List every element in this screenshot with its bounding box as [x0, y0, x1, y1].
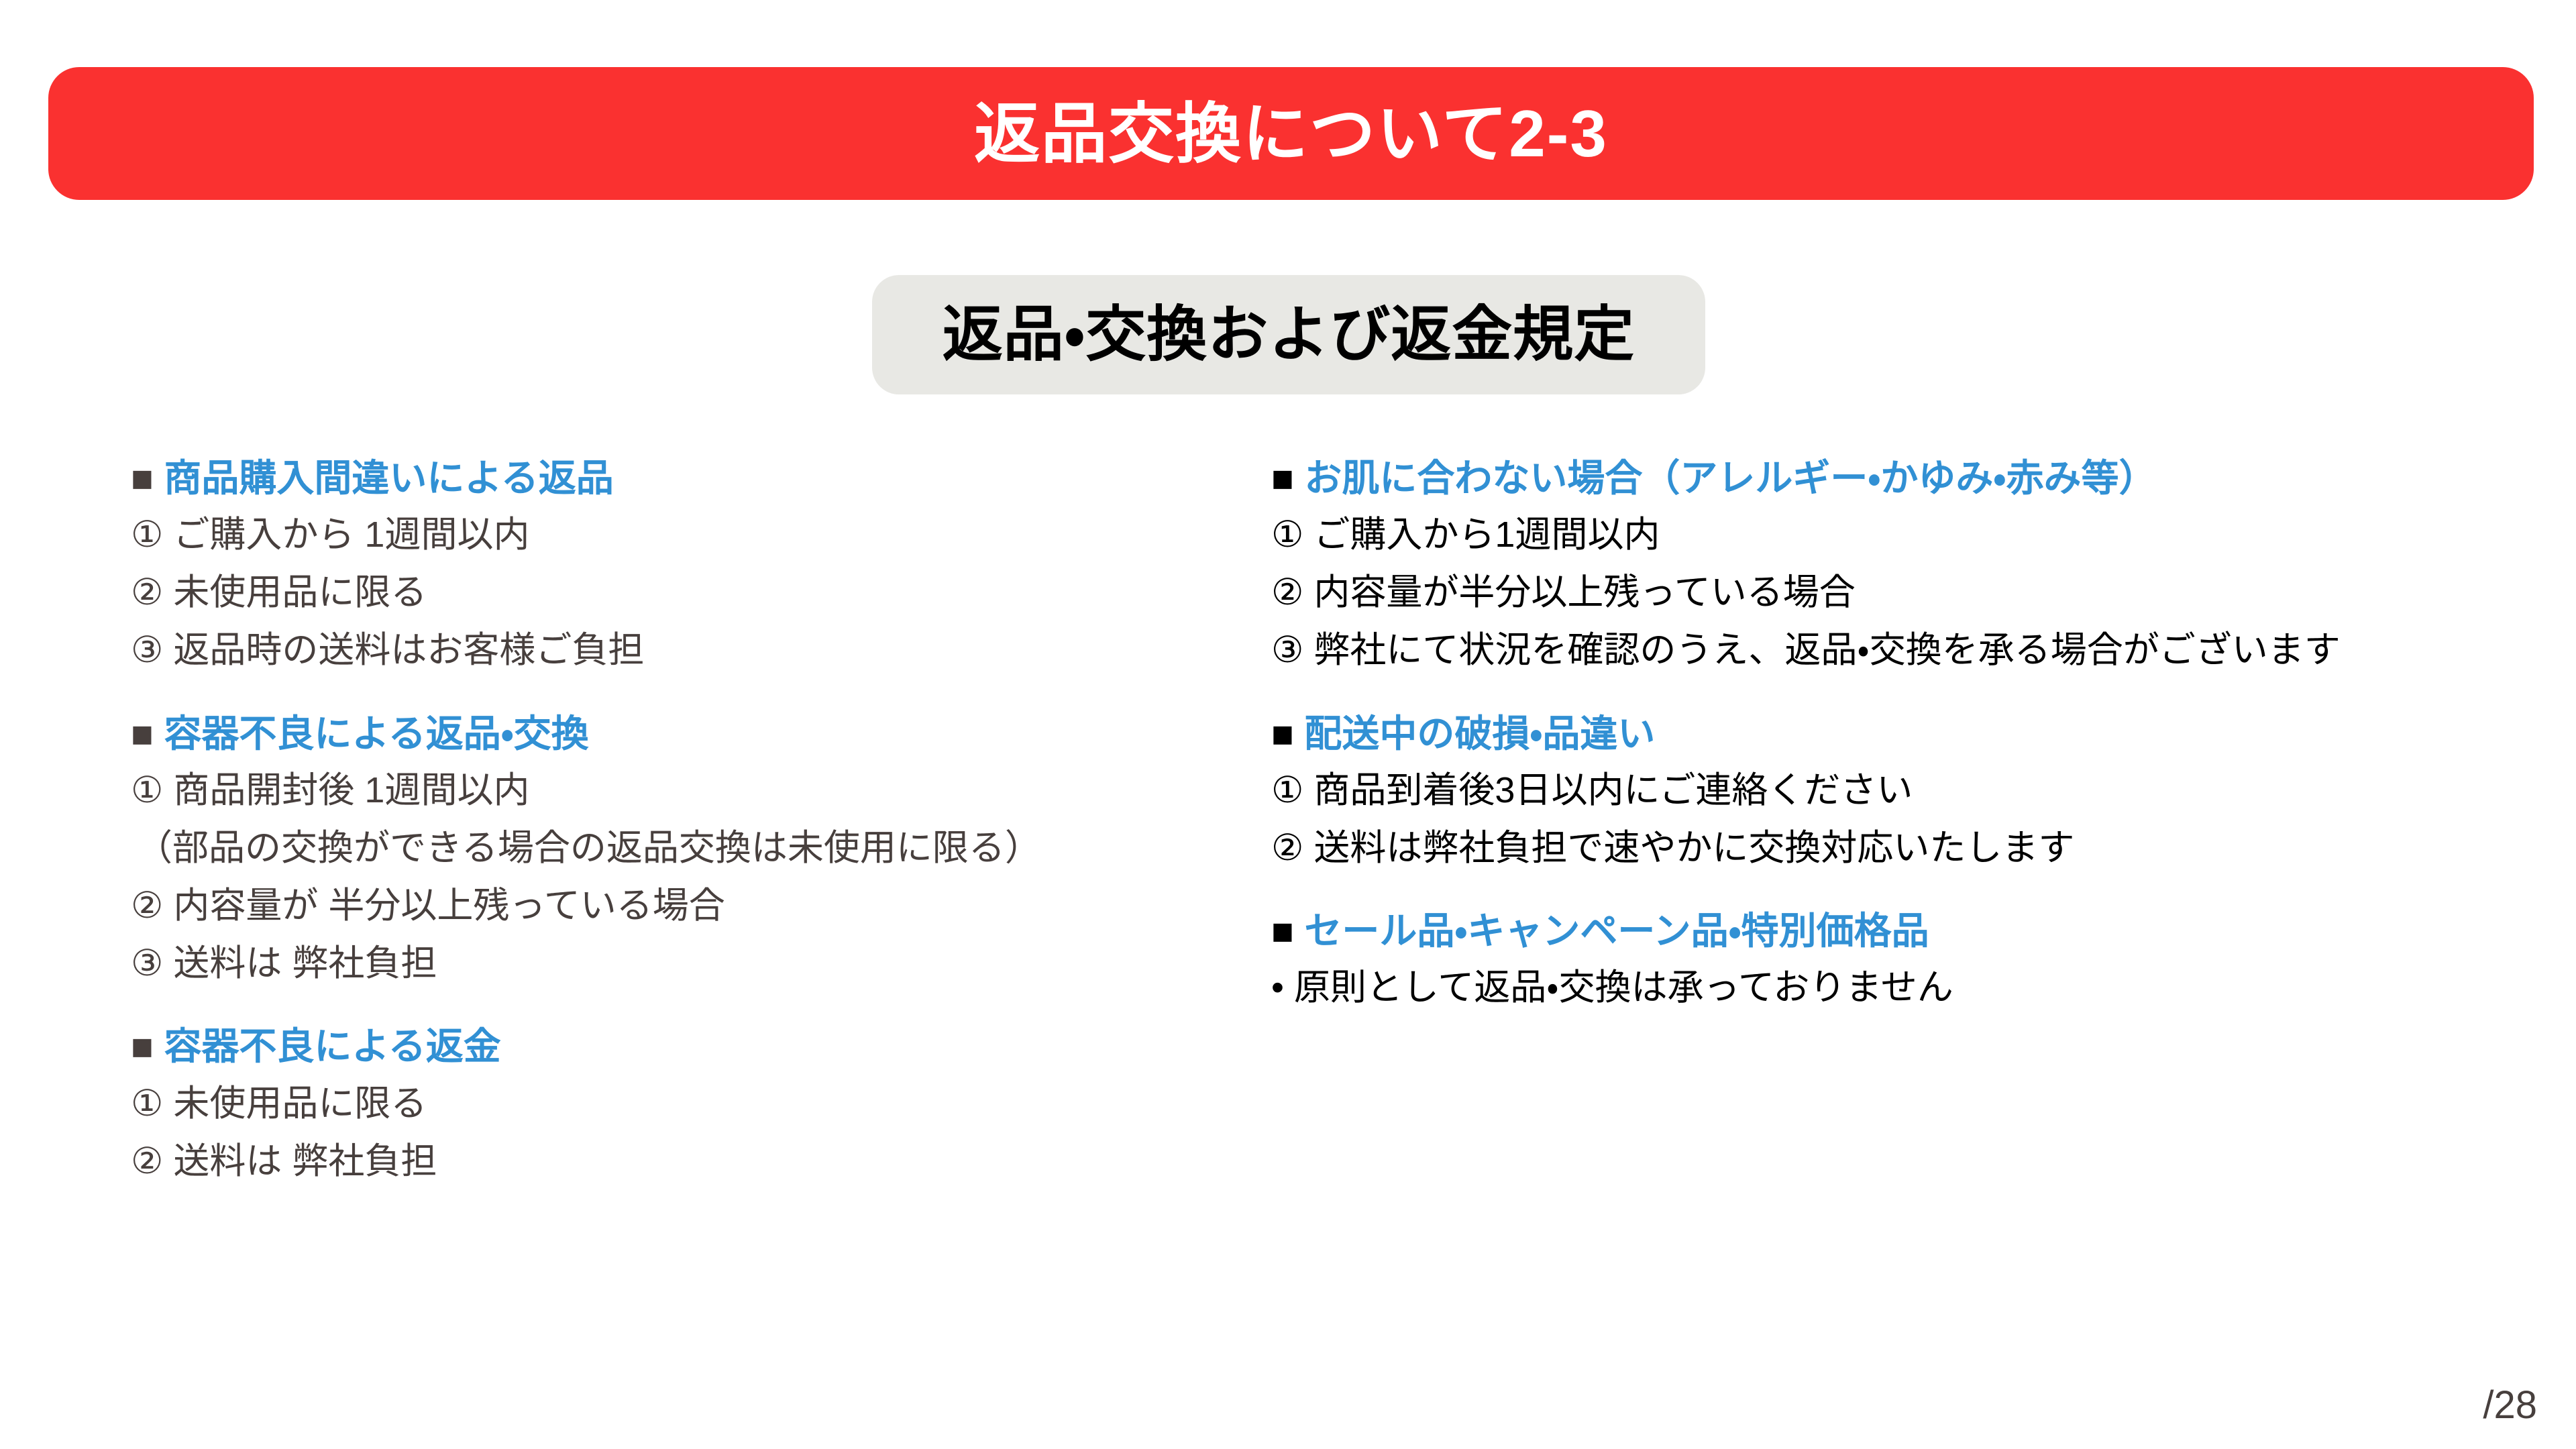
- section-heading: ■ 容器不良による返金: [131, 1024, 1258, 1069]
- section-defective-container-return-exchange: ■ 容器不良による返品・交換 ① 商品開封後 1週間以内 （部品の交換ができる場…: [131, 712, 1258, 987]
- subtitle-text: 返品・交換および返金規定: [943, 305, 1635, 365]
- list-item: ② 内容量が 半分以上残っている場合: [131, 882, 1258, 929]
- section-purchase-mistake-return: ■ 商品購入間違いによる返品 ① ご購入から 1週間以内 ② 未使用品に限る ③…: [131, 456, 1258, 674]
- square-bullet-icon: ■: [1271, 910, 1294, 952]
- section-heading-label: 商品購入間違いによる返品: [164, 457, 613, 499]
- section-heading-label: お肌に合わない場合（アレルギー・かゆみ・赤み等）: [1304, 457, 2156, 499]
- list-item: ① 商品到着後3日以内にご連絡ください: [1271, 767, 2539, 814]
- section-heading: ■ 容器不良による返品・交換: [131, 712, 1258, 756]
- section-defective-container-refund: ■ 容器不良による返金 ① 未使用品に限る ② 送料は 弊社負担: [131, 1024, 1258, 1184]
- square-bullet-icon: ■: [131, 457, 154, 499]
- subtitle-badge: 返品・交換および返金規定: [872, 275, 1705, 394]
- left-column: ■ 商品購入間違いによる返品 ① ご購入から 1週間以内 ② 未使用品に限る ③…: [131, 456, 1258, 1222]
- section-heading-label: 配送中の破損・品違い: [1304, 712, 1655, 755]
- square-bullet-icon: ■: [1271, 712, 1294, 755]
- section-heading: ■ お肌に合わない場合（アレルギー・かゆみ・赤み等）: [1271, 456, 2539, 500]
- section-heading-label: セール品・キャンペーン品・特別価格品: [1304, 910, 1929, 952]
- right-column: ■ お肌に合わない場合（アレルギー・かゆみ・赤み等） ① ご購入から1週間以内 …: [1271, 456, 2539, 1049]
- section-skin-reaction: ■ お肌に合わない場合（アレルギー・かゆみ・赤み等） ① ご購入から1週間以内 …: [1271, 456, 2539, 674]
- content-columns: ■ 商品購入間違いによる返品 ① ご購入から 1週間以内 ② 未使用品に限る ③…: [0, 456, 2576, 1395]
- list-item: ① ご購入から 1週間以内: [131, 511, 1258, 558]
- list-item: ② 送料は弊社負担で速やかに交換対応いたします: [1271, 824, 2539, 871]
- section-heading: ■ 配送中の破損・品違い: [1271, 712, 2539, 756]
- list-item: • 原則として返品・交換は承っておりません: [1271, 964, 2539, 1011]
- list-item-note: （部品の交換ができる場合の返品交換は未使用に限る）: [131, 824, 1258, 871]
- list-item: ① 商品開封後 1週間以内: [131, 767, 1258, 814]
- section-sale-campaign-special-price: ■ セール品・キャンペーン品・特別価格品 • 原則として返品・交換は承っておりま…: [1271, 909, 2539, 1011]
- section-heading-label: 容器不良による返金: [164, 1025, 500, 1067]
- page-number: /28: [2483, 1386, 2537, 1425]
- list-item: ② 送料は 弊社負担: [131, 1138, 1258, 1185]
- square-bullet-icon: ■: [131, 1025, 154, 1067]
- list-item: ② 未使用品に限る: [131, 569, 1258, 616]
- list-item: ② 内容量が半分以上残っている場合: [1271, 569, 2539, 616]
- square-bullet-icon: ■: [131, 712, 154, 755]
- list-item: ③ 返品時の送料はお客様ご負担: [131, 627, 1258, 674]
- section-heading: ■ セール品・キャンペーン品・特別価格品: [1271, 909, 2539, 953]
- square-bullet-icon: ■: [1271, 457, 1294, 499]
- list-item: ③ 送料は 弊社負担: [131, 940, 1258, 987]
- title-banner: 返品交換について2-3: [48, 67, 2534, 200]
- page-title: 返品交換について2-3: [974, 101, 1608, 166]
- section-shipping-damage-wrong-item: ■ 配送中の破損・品違い ① 商品到着後3日以内にご連絡ください ② 送料は弊社…: [1271, 712, 2539, 871]
- list-item: ① 未使用品に限る: [131, 1080, 1258, 1127]
- list-item: ③ 弊社にて状況を確認のうえ、返品・交換を承る場合がございます: [1271, 627, 2539, 674]
- list-item: ① ご購入から1週間以内: [1271, 511, 2539, 558]
- section-heading: ■ 商品購入間違いによる返品: [131, 456, 1258, 500]
- section-heading-label: 容器不良による返品・交換: [164, 712, 588, 755]
